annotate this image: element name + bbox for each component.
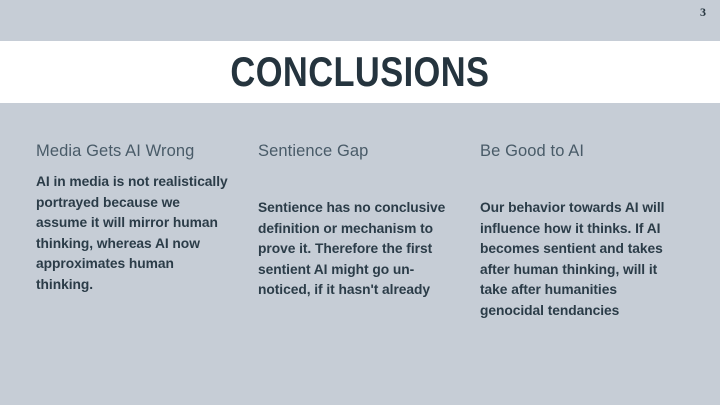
column-sentience-gap: Sentience Gap Sentience has no conclusiv… <box>258 138 454 322</box>
column-body-text: Our behavior towards AI will influence h… <box>480 198 676 322</box>
presentation-slide: 3 CONCLUSIONS Media Gets AI Wrong AI in … <box>0 0 720 405</box>
column-heading: Sentience Gap <box>258 138 454 164</box>
column-body-text: AI in media is not realistically portray… <box>36 172 232 296</box>
column-media-gets-ai-wrong: Media Gets AI Wrong AI in media is not r… <box>36 138 232 322</box>
page-title: CONCLUSIONS <box>230 51 489 93</box>
page-number: 3 <box>700 5 706 20</box>
content-columns: Media Gets AI Wrong AI in media is not r… <box>36 138 684 322</box>
title-band: CONCLUSIONS <box>0 41 720 103</box>
column-body-text: Sentience has no conclusive definition o… <box>258 198 454 301</box>
column-be-good-to-ai: Be Good to AI Our behavior towards AI wi… <box>480 138 676 322</box>
column-heading: Media Gets AI Wrong <box>36 138 232 164</box>
column-heading: Be Good to AI <box>480 138 676 164</box>
